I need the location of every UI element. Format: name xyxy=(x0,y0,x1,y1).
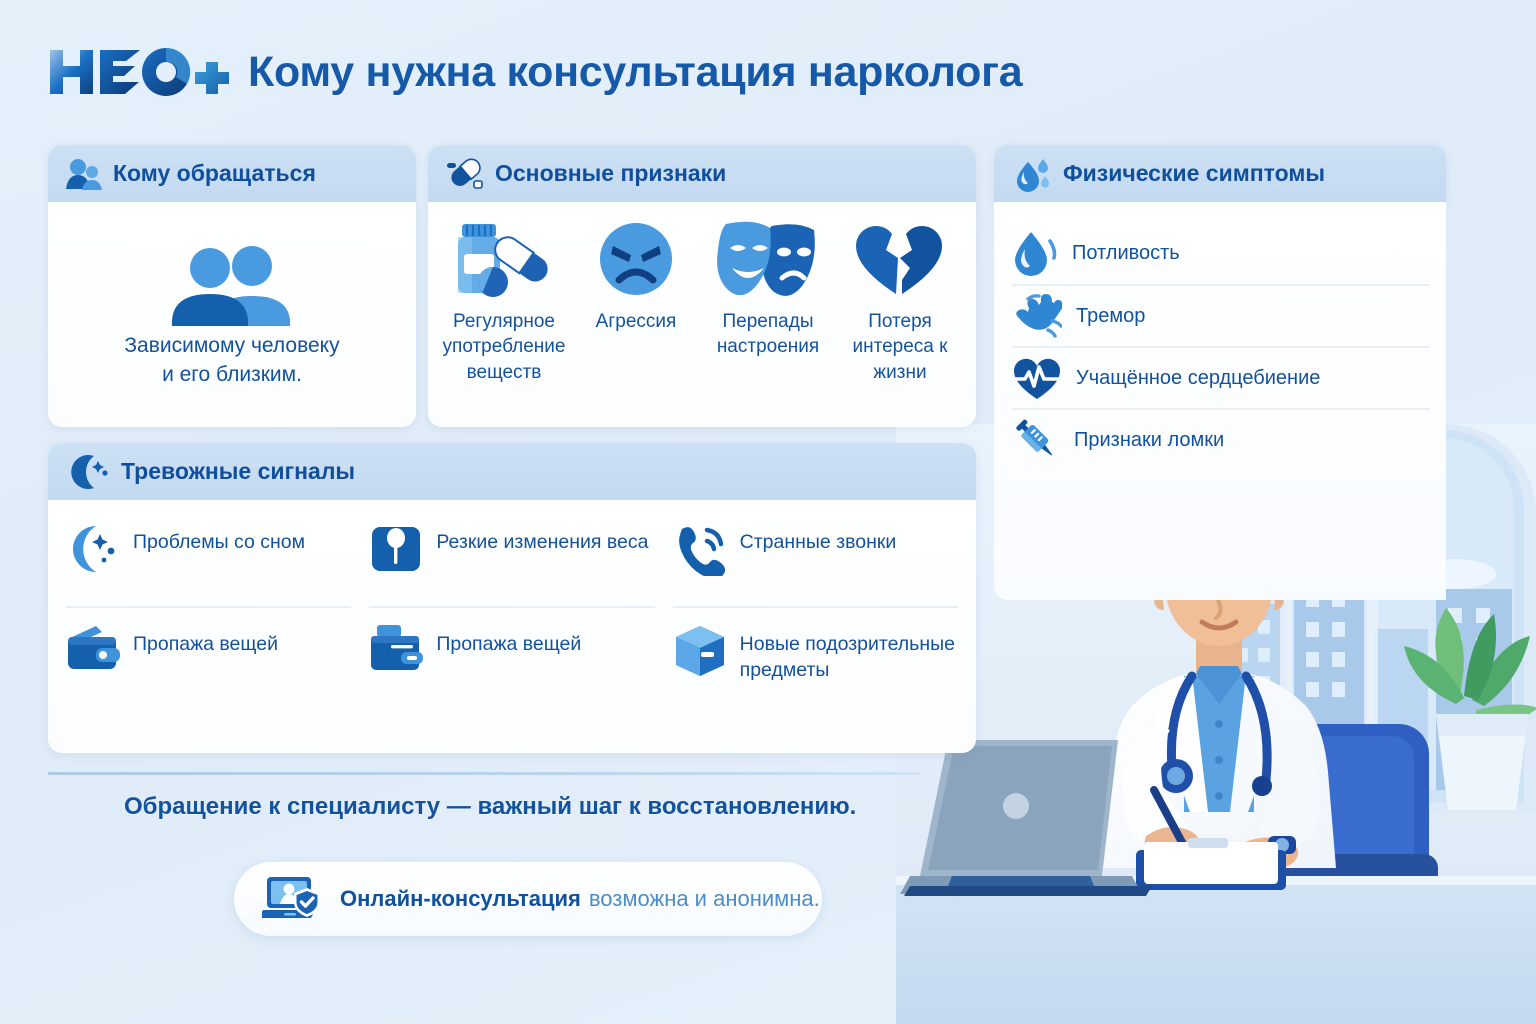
physical-label: Тремор xyxy=(1076,303,1145,329)
weight-scale-icon xyxy=(369,522,423,576)
sign-item: Регулярное употребление веществ xyxy=(442,220,566,385)
alert-item: Проблемы со сном xyxy=(66,514,351,606)
syringe-icon xyxy=(1012,416,1060,464)
sign-label: Перепады настроения xyxy=(706,309,830,360)
sign-label: Агрессия xyxy=(596,309,677,334)
card-body: Зависимому человеку и его близким. xyxy=(48,202,416,427)
sign-label: Регулярное употребление веществ xyxy=(442,309,566,385)
who-caption-line1: Зависимому человеку xyxy=(124,332,339,360)
page-title: Кому нужна консультация нарколога xyxy=(248,48,1022,97)
card-header: Основные признаки xyxy=(428,145,976,202)
wallet-icon xyxy=(66,624,120,672)
card-main-signs: Основные признаки Регулярное употреблени… xyxy=(428,145,976,427)
alert-item: Резкие изменения веса xyxy=(369,514,654,606)
alert-item: Странные звонки xyxy=(673,514,958,606)
water-drops-icon xyxy=(1014,156,1052,192)
alert-label: Резкие изменения веса xyxy=(436,522,648,555)
card-body: Проблемы со сном Резкие изменения веса С… xyxy=(48,500,976,753)
card-body: Регулярное употребление веществ Агрессия xyxy=(428,202,976,427)
package-box-icon xyxy=(673,624,727,678)
heart-pulse-icon xyxy=(1012,355,1062,401)
alert-item: Пропажа вещей xyxy=(369,606,654,753)
alert-item: Пропажа вещей xyxy=(66,606,351,753)
sign-item: Перепады настроения xyxy=(706,220,830,360)
shaking-hand-icon xyxy=(1012,293,1062,339)
physical-item: Тремор xyxy=(1012,284,1430,346)
alert-item: Новые подозрительные предметы xyxy=(673,606,958,753)
badge-light-text: возможна и анонимна. xyxy=(589,886,820,912)
alert-label: Странные звонки xyxy=(740,522,897,555)
moon-stars-icon xyxy=(70,453,110,491)
physical-item: Потливость xyxy=(1012,222,1430,284)
card-header: Кому обращаться xyxy=(48,145,416,202)
plant-icon xyxy=(1404,608,1536,810)
briefcase-icon xyxy=(369,624,423,672)
badge-text: Онлайн-консультация возможна и анонимна. xyxy=(340,886,820,912)
physical-label: Потливость xyxy=(1072,240,1180,266)
two-people-icon xyxy=(170,246,294,326)
page-header: Кому нужна консультация нарколога xyxy=(48,34,1022,110)
card-title: Основные признаки xyxy=(495,160,726,187)
card-header: Тревожные сигналы xyxy=(48,443,976,500)
pill-bottle-icon xyxy=(452,220,556,298)
card-physical-symptoms: Физические симптомы Потливость Тремор xyxy=(994,145,1446,600)
broken-heart-icon xyxy=(852,220,948,298)
alert-label: Проблемы со сном xyxy=(133,522,305,555)
card-who-to-contact: Кому обращаться Зависимому человеку и ег… xyxy=(48,145,416,427)
office-chair xyxy=(1248,724,1438,888)
laptop-verified-icon xyxy=(262,874,326,924)
sign-item: Агрессия xyxy=(574,220,698,334)
who-caption: Зависимому человеку и его близким. xyxy=(124,332,339,389)
physical-item: Признаки ломки xyxy=(1012,408,1430,470)
angry-face-icon xyxy=(593,220,679,298)
alert-label: Новые подозрительные предметы xyxy=(740,624,958,683)
sign-label: Потеря интереса к жизни xyxy=(838,309,962,385)
pills-icon xyxy=(446,157,484,191)
card-title: Тревожные сигналы xyxy=(121,458,355,485)
neo-plus-logo xyxy=(48,44,232,100)
card-title: Кому обращаться xyxy=(113,160,316,187)
laptop-icon xyxy=(900,740,1152,896)
phone-call-icon xyxy=(673,522,727,576)
physical-label: Признаки ломки xyxy=(1074,427,1224,453)
sweat-drop-icon xyxy=(1012,229,1058,277)
card-header: Физические симптомы xyxy=(994,145,1446,202)
theater-masks-icon xyxy=(716,220,820,298)
clipboard-icon xyxy=(1136,838,1286,890)
moon-sleep-icon xyxy=(66,522,120,576)
footer-divider xyxy=(48,772,920,775)
online-consultation-badge[interactable]: Онлайн-консультация возможна и анонимна. xyxy=(234,862,822,936)
card-body: Потливость Тремор Учащённое сердцебиение xyxy=(994,202,1446,600)
alert-label: Пропажа вещей xyxy=(133,624,278,657)
card-title: Физические симптомы xyxy=(1063,160,1325,187)
footer-note: Обращение к специалисту — важный шаг к в… xyxy=(124,793,856,821)
who-caption-line2: и его близким. xyxy=(124,361,339,389)
card-warning-signals: Тревожные сигналы Проблемы со сном Резки… xyxy=(48,443,976,753)
physical-item: Учащённое сердцебиение xyxy=(1012,346,1430,408)
sign-item: Потеря интереса к жизни xyxy=(838,220,962,385)
alert-label: Пропажа вещей xyxy=(436,624,581,657)
badge-bold-text: Онлайн-консультация xyxy=(340,886,581,912)
people-icon xyxy=(66,158,102,190)
physical-label: Учащённое сердцебиение xyxy=(1076,365,1320,391)
